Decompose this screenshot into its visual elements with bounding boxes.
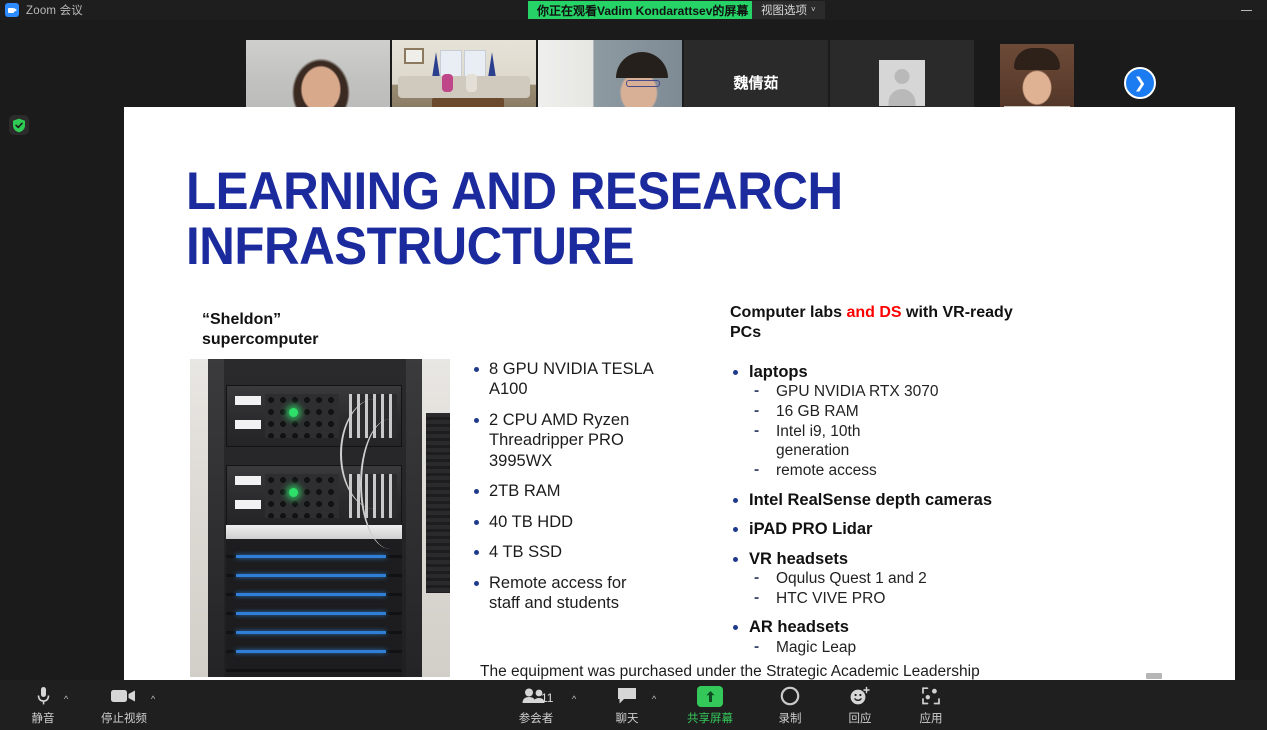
minimize-button[interactable] (1231, 0, 1261, 20)
camera-icon (111, 685, 137, 707)
list-item: 2 CPU AMD Ryzen Threadripper PRO 3995WX (472, 410, 660, 471)
participants-count: 11 (541, 691, 553, 705)
apps-label: 应用 (920, 710, 943, 726)
avatar (879, 60, 925, 106)
microphone-icon (36, 685, 51, 707)
chat-options-caret-icon[interactable]: ^ (652, 694, 656, 704)
mute-label: 静音 (32, 710, 55, 726)
reactions-icon (849, 685, 871, 707)
list-item: 2TB RAM (472, 481, 660, 501)
app-title: Zoom 会议 (26, 2, 83, 18)
list-item: 4 TB SSD (472, 542, 660, 562)
sub-list-item-continuation: generation (730, 441, 1030, 461)
participants-options-caret-icon[interactable]: ^ (572, 694, 576, 704)
stop-video-button[interactable]: 停止视频 (93, 685, 155, 726)
sub-list-item: HTC VIVE PRO (730, 589, 1030, 609)
view-options-button[interactable]: 视图选项 ˅ (752, 1, 825, 19)
list-item: iPAD PRO Lidar (730, 519, 1030, 539)
mute-button[interactable]: 静音 (12, 685, 74, 726)
reactions-label: 回应 (849, 710, 872, 726)
video-options-caret-icon[interactable]: ^ (151, 694, 155, 704)
computer-labs-heading: Computer labs and DS with VR-ready PCs (730, 303, 1030, 344)
supercomputer-heading-line1: “Sheldon” supercomputer (202, 311, 318, 348)
sub-list-item: remote access (730, 461, 1030, 481)
chevron-right-icon[interactable]: ❯ (1124, 67, 1156, 99)
apps-button[interactable]: 应用 (900, 685, 962, 726)
list-item: Intel RealSense depth cameras (730, 490, 1030, 510)
zoom-logo-icon (5, 3, 19, 17)
page-title: LEARNING AND RESEARCH INFRASTRUCTURE (186, 164, 958, 274)
mute-options-caret-icon[interactable]: ^ (64, 694, 68, 704)
sub-list-item: Oqulus Quest 1 and 2 (730, 569, 1030, 589)
participants-label: 参会者 (519, 710, 554, 726)
list-item: 8 GPU NVIDIA TESLA A100 (472, 359, 660, 400)
sub-list-item: 16 GB RAM (730, 402, 1030, 422)
minimize-icon (1241, 10, 1252, 11)
list-item: VR headsets (730, 549, 1030, 569)
list-item: AR headsets (730, 617, 1030, 637)
list-item: Remote access for staff and students (472, 573, 660, 614)
participants-button[interactable]: 参会者 11 (505, 685, 567, 726)
chevron-down-icon: ˅ (811, 6, 816, 14)
zoom-meeting-window: Zoom 会议 你正在观看Vadim Kondarattsev的屏幕 视图选项 … (0, 0, 1267, 730)
view-options-label: 视图选项 (761, 2, 807, 18)
horizontal-scrollbar-thumb[interactable] (1146, 673, 1162, 679)
computer-labs-column: Computer labs and DS with VR-ready PCs l… (730, 303, 1030, 658)
heading-accent: and DS (846, 304, 901, 321)
list-item: 40 TB HDD (472, 512, 660, 532)
shield-check-icon[interactable] (9, 115, 29, 135)
sub-list-item: GPU NVIDIA RTX 3070 (730, 382, 1030, 402)
share-screen-icon (697, 685, 723, 707)
participant-filmstrip: foreign secretary Yan NPU zheng 魏倩茹 (0, 20, 1267, 106)
stop-video-label: 停止视频 (101, 710, 147, 726)
supercomputer-heading: “Sheldon” supercomputer (202, 310, 442, 351)
chat-label: 聊天 (616, 710, 639, 726)
heading-pre: Computer labs (730, 304, 846, 321)
record-icon (780, 685, 800, 707)
share-screen-button[interactable]: 共享屏幕 (679, 685, 741, 726)
screen-share-banner: 你正在观看Vadim Kondarattsev的屏幕 (528, 1, 757, 19)
record-label: 录制 (779, 710, 802, 726)
meeting-toolbar: 静音 ^ 停止视频 ^ 参会者 11 ^ 聊天 ^ (0, 680, 1267, 730)
shared-screen-content: LEARNING AND RESEARCH INFRASTRUCTURE “Sh… (124, 107, 1235, 680)
apps-icon (921, 685, 941, 707)
sub-list-item: Intel i9, 10th (730, 422, 1030, 442)
sub-list-item: Magic Leap (730, 638, 1030, 658)
supercomputer-rack-photo (190, 359, 450, 677)
supercomputer-spec-list: 8 GPU NVIDIA TESLA A100 2 CPU AMD Ryzen … (472, 359, 660, 624)
slide-footnote: The equipment was purchased under the St… (480, 663, 1180, 680)
chat-button[interactable]: 聊天 (596, 685, 658, 726)
list-item: laptops (730, 362, 1030, 382)
chat-bubble-icon (617, 685, 637, 707)
record-button[interactable]: 录制 (759, 685, 821, 726)
title-bar: Zoom 会议 你正在观看Vadim Kondarattsev的屏幕 视图选项 … (0, 0, 1267, 20)
share-screen-label: 共享屏幕 (687, 710, 733, 726)
reactions-button[interactable]: 回应 (829, 685, 891, 726)
